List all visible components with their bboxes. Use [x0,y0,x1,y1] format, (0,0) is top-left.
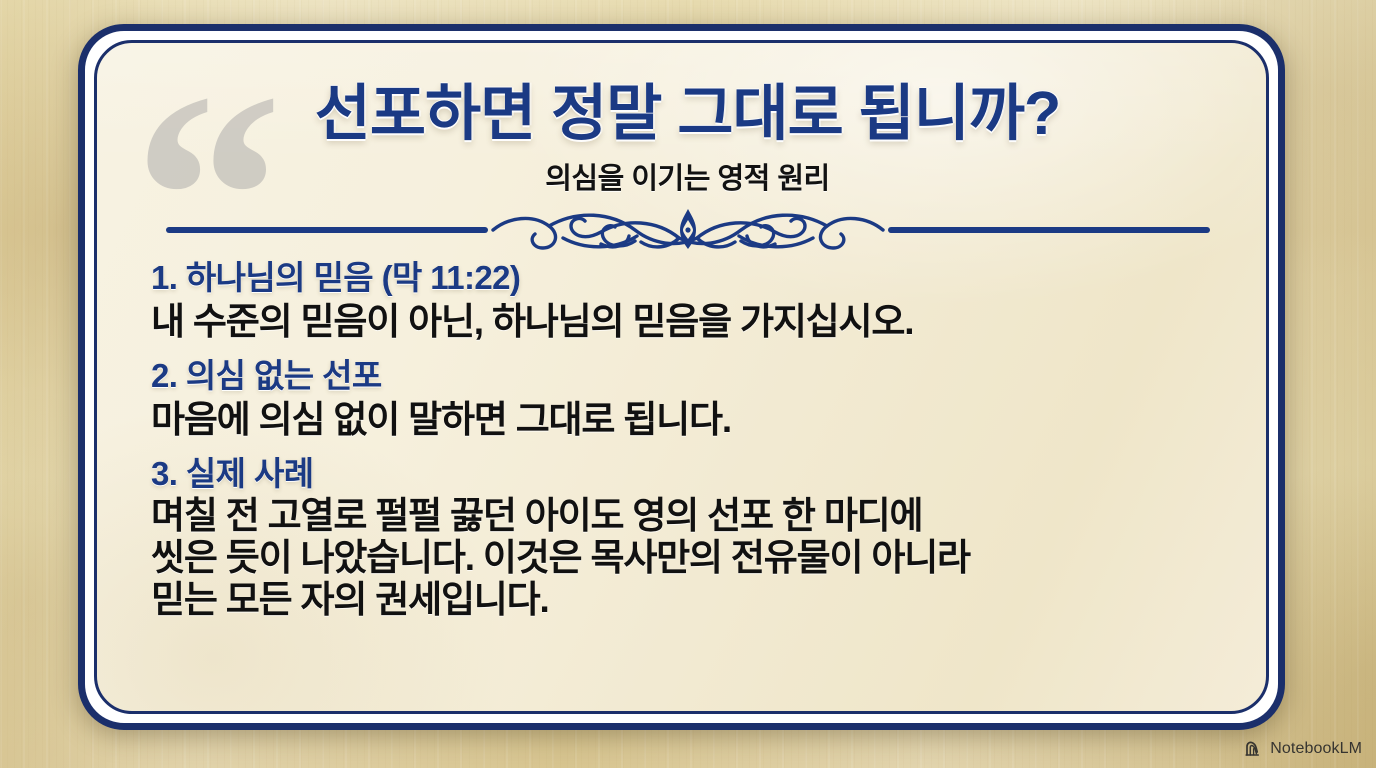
section-2-heading: 2. 의심 없는 선포 [151,355,1232,396]
slide-subtitle: 의심을 이기는 영적 원리 [143,155,1232,197]
section-1-body: 내 수준의 믿음이 아닌, 하나님의 믿음을 가지십시오. [151,300,1232,343]
card-inner-panel: “ 선포하면 정말 그대로 됩니까? 의심을 이기는 영적 원리 [94,40,1269,714]
section-2-line-1: 마음에 의심 없이 말하면 그대로 됩니다. [151,398,1232,441]
slide-title: 선포하면 정말 그대로 됩니까? [143,81,1232,147]
section-3-body: 며칠 전 고열로 펄펄 끓던 아이도 영의 선포 한 마디에 씻은 듯이 나았습… [151,495,1232,620]
section-1: 1. 하나님의 믿음 (막 11:22) 내 수준의 믿음이 아닌, 하나님의 … [151,257,1232,344]
notebooklm-arc-icon [1245,741,1264,757]
section-3-line-2: 씻은 듯이 나았습니다. 이것은 목사만의 전유물이 아니라 [151,537,1232,579]
notebooklm-label: NotebookLM [1270,740,1362,758]
section-3: 3. 실제 사례 며칠 전 고열로 펄펄 끓던 아이도 영의 선포 한 마디에 … [151,453,1232,621]
sections-list: 1. 하나님의 믿음 (막 11:22) 내 수준의 믿음이 아닌, 하나님의 … [151,257,1232,621]
section-2: 2. 의심 없는 선포 마음에 의심 없이 말하면 그대로 됩니다. [151,355,1232,441]
section-3-line-3: 믿는 모든 자의 권세입니다. [151,579,1232,621]
slide-content: 선포하면 정말 그대로 됩니까? 의심을 이기는 영적 원리 [97,43,1266,711]
section-3-line-1: 며칠 전 고열로 펄펄 끓던 아이도 영의 선포 한 마디에 [151,495,1232,537]
ornamental-divider-icon [163,207,1213,253]
section-1-heading: 1. 하나님의 믿음 (막 11:22) [151,257,1232,298]
section-3-heading: 3. 실제 사례 [151,453,1232,494]
notebooklm-watermark: NotebookLM [1245,740,1362,758]
section-2-body: 마음에 의심 없이 말하면 그대로 됩니다. [151,398,1232,441]
framed-card: “ 선포하면 정말 그대로 됩니까? 의심을 이기는 영적 원리 [78,24,1285,730]
slide-canvas: “ 선포하면 정말 그대로 됩니까? 의심을 이기는 영적 원리 [0,0,1376,768]
section-1-line-1: 내 수준의 믿음이 아닌, 하나님의 믿음을 가지십시오. [151,300,1232,343]
